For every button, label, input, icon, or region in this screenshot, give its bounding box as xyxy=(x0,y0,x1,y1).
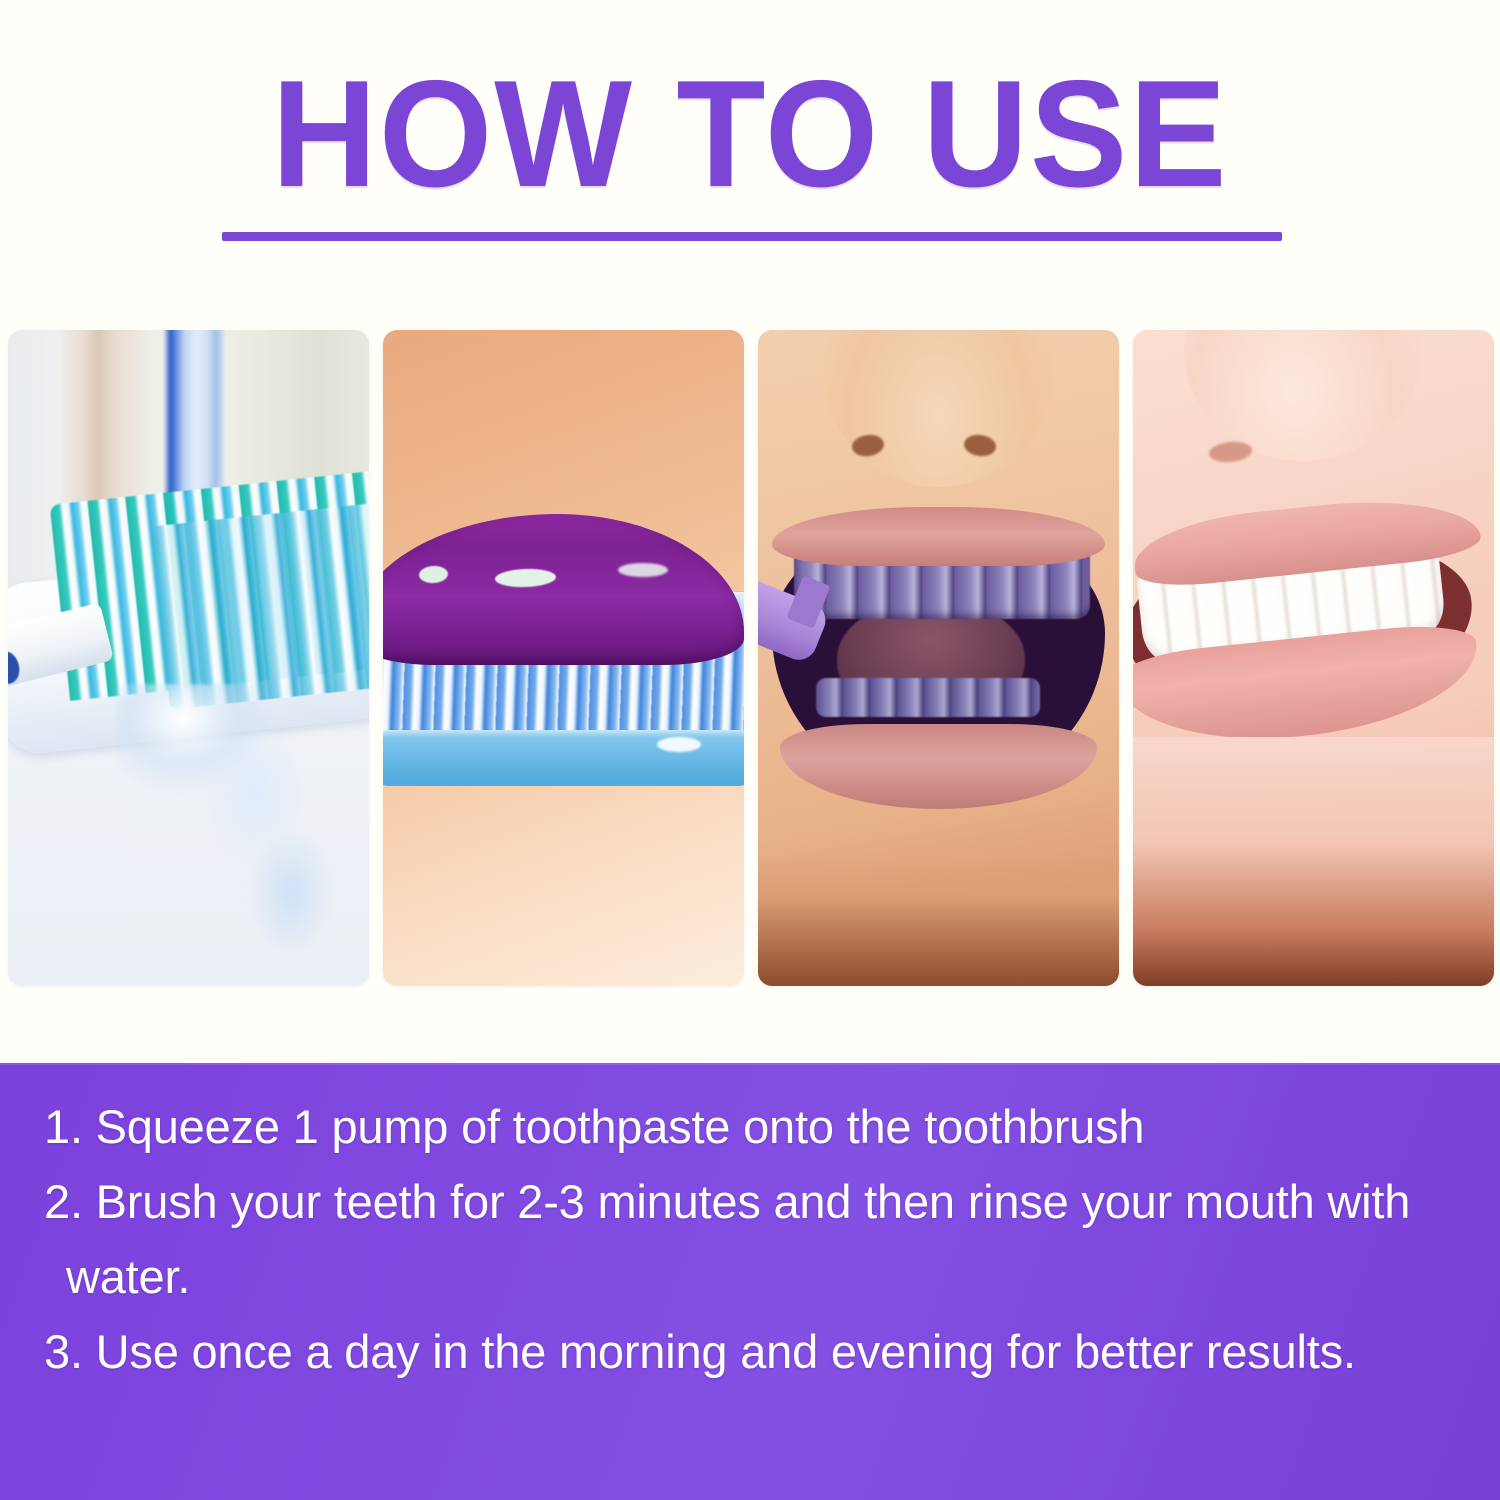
photo-panel-rinse-brush xyxy=(8,330,369,986)
chin-shadow xyxy=(1133,737,1494,986)
photo-gallery xyxy=(8,330,1494,986)
lower-teeth-purple-coated xyxy=(816,678,1040,717)
instructions-banner: 1. Squeeze 1 pump of toothpaste onto the… xyxy=(0,1063,1500,1500)
toothbrush-bristles-blue xyxy=(151,502,369,709)
photo-panel-white-smile xyxy=(1133,330,1494,986)
instruction-item-1: 1. Squeeze 1 pump of toothpaste onto the… xyxy=(44,1089,1456,1164)
photo-panel-apply-paste xyxy=(383,330,744,986)
header: HOW TO USE xyxy=(0,0,1500,300)
instruction-item-3: 3. Use once a day in the morning and eve… xyxy=(44,1314,1456,1389)
water-splash-icon xyxy=(116,684,340,973)
photo-panel-brushing-mouth xyxy=(758,330,1119,986)
title-underline-divider xyxy=(222,232,1282,241)
upper-lip-shape xyxy=(772,507,1104,566)
page-title: HOW TO USE xyxy=(30,58,1470,210)
chin-shadow xyxy=(758,855,1119,986)
instruction-item-2: 2. Brush your teeth for 2-3 minutes and … xyxy=(44,1164,1456,1314)
instruction-list: 1. Squeeze 1 pump of toothpaste onto the… xyxy=(44,1089,1456,1389)
